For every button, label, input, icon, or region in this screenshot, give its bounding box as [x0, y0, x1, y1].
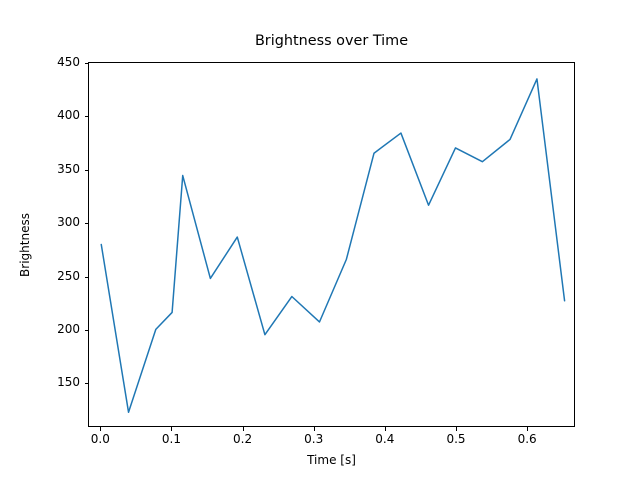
y-tick-label: 400 [20, 108, 80, 122]
x-tick-mark [100, 427, 101, 431]
x-tick-label: 0.5 [426, 432, 486, 446]
chart-title: Brightness over Time [88, 33, 575, 50]
y-tick-label: 350 [20, 162, 80, 176]
y-tick-label: 300 [20, 215, 80, 229]
matplotlib-figure: Brightness over Time Brightness Time [s]… [0, 0, 640, 480]
x-tick-mark [456, 427, 457, 431]
x-axis-label: Time [s] [88, 453, 575, 467]
y-tick-label: 450 [20, 55, 80, 69]
plot-area [88, 62, 575, 427]
x-tick-label: 0.2 [213, 432, 273, 446]
y-tick-label: 150 [20, 375, 80, 389]
x-tick-mark [243, 427, 244, 431]
x-tick-label: 0.0 [70, 432, 130, 446]
y-axis-label: Brightness [18, 165, 34, 325]
line-series-brightness [101, 79, 564, 412]
x-tick-mark [385, 427, 386, 431]
x-tick-label: 0.6 [497, 432, 557, 446]
x-tick-mark [171, 427, 172, 431]
x-tick-mark [314, 427, 315, 431]
y-tick-label: 250 [20, 269, 80, 283]
x-tick-label: 0.1 [141, 432, 201, 446]
line-series-svg [89, 63, 574, 426]
x-tick-label: 0.4 [355, 432, 415, 446]
y-tick-label: 200 [20, 322, 80, 336]
x-tick-mark [527, 427, 528, 431]
x-tick-label: 0.3 [284, 432, 344, 446]
